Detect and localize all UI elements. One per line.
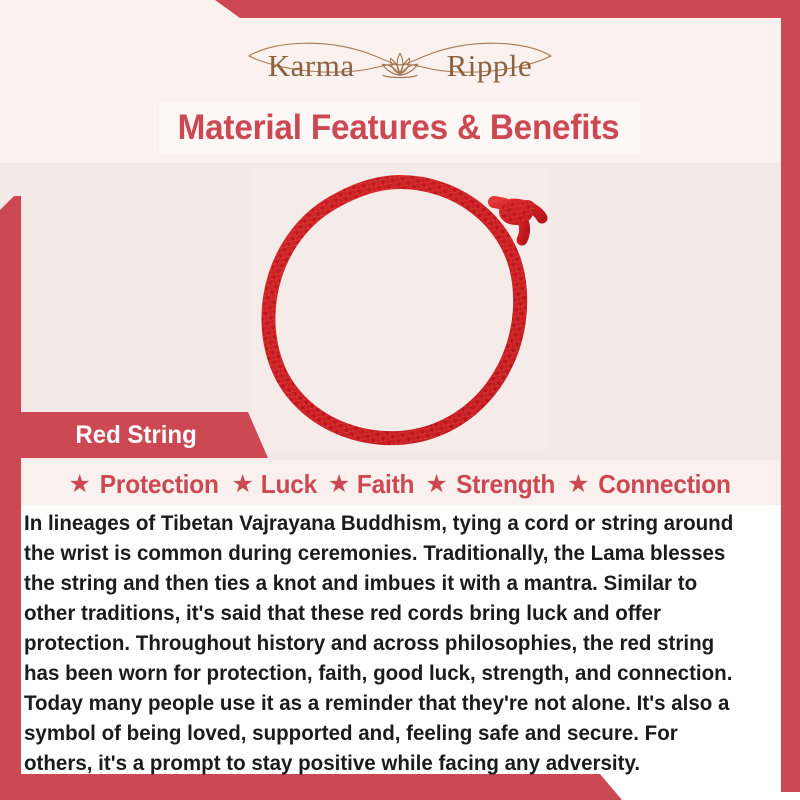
feature-item-luck: ★ Luck	[223, 469, 319, 500]
page-title: Material Features & Benefits	[178, 108, 620, 148]
brand-logo: Karma Ripple	[0, 34, 800, 96]
feature-item-strength: ★ Strength	[416, 469, 558, 500]
feature-label: Faith	[357, 469, 414, 500]
feature-label: Connection	[599, 469, 732, 500]
decor-left-strip	[0, 196, 21, 792]
star-icon: ★	[567, 472, 589, 497]
section-banner-label: Red String	[22, 421, 197, 450]
section-banner-red-string: Red String	[18, 412, 268, 458]
decor-right-strip	[781, 17, 800, 792]
star-icon: ★	[232, 472, 254, 497]
feature-list: ★ Protection ★ Luck ★ Faith ★ Strength ★…	[20, 464, 775, 504]
logo-word-karma: Karma	[268, 50, 355, 81]
feature-label: Strength	[456, 469, 555, 500]
feature-label: Protection	[100, 469, 219, 500]
feature-item-connection: ★ Connection	[558, 469, 735, 500]
lotus-flower-icon	[377, 47, 423, 81]
title-banner: Material Features & Benefits	[158, 103, 640, 153]
description-paragraph: In lineages of Tibetan Vajrayana Buddhis…	[24, 508, 742, 778]
star-icon: ★	[328, 472, 350, 497]
feature-item-protection: ★ Protection	[60, 469, 223, 500]
feature-label: Luck	[261, 469, 317, 500]
product-image-red-string-bracelet	[250, 168, 550, 452]
logo-word-ripple: Ripple	[447, 50, 533, 81]
infographic-page: Karma Ripple Material Features & Benefit…	[0, 0, 800, 800]
star-icon: ★	[425, 472, 447, 497]
star-icon: ★	[69, 472, 91, 497]
feature-item-faith: ★ Faith	[319, 469, 417, 500]
